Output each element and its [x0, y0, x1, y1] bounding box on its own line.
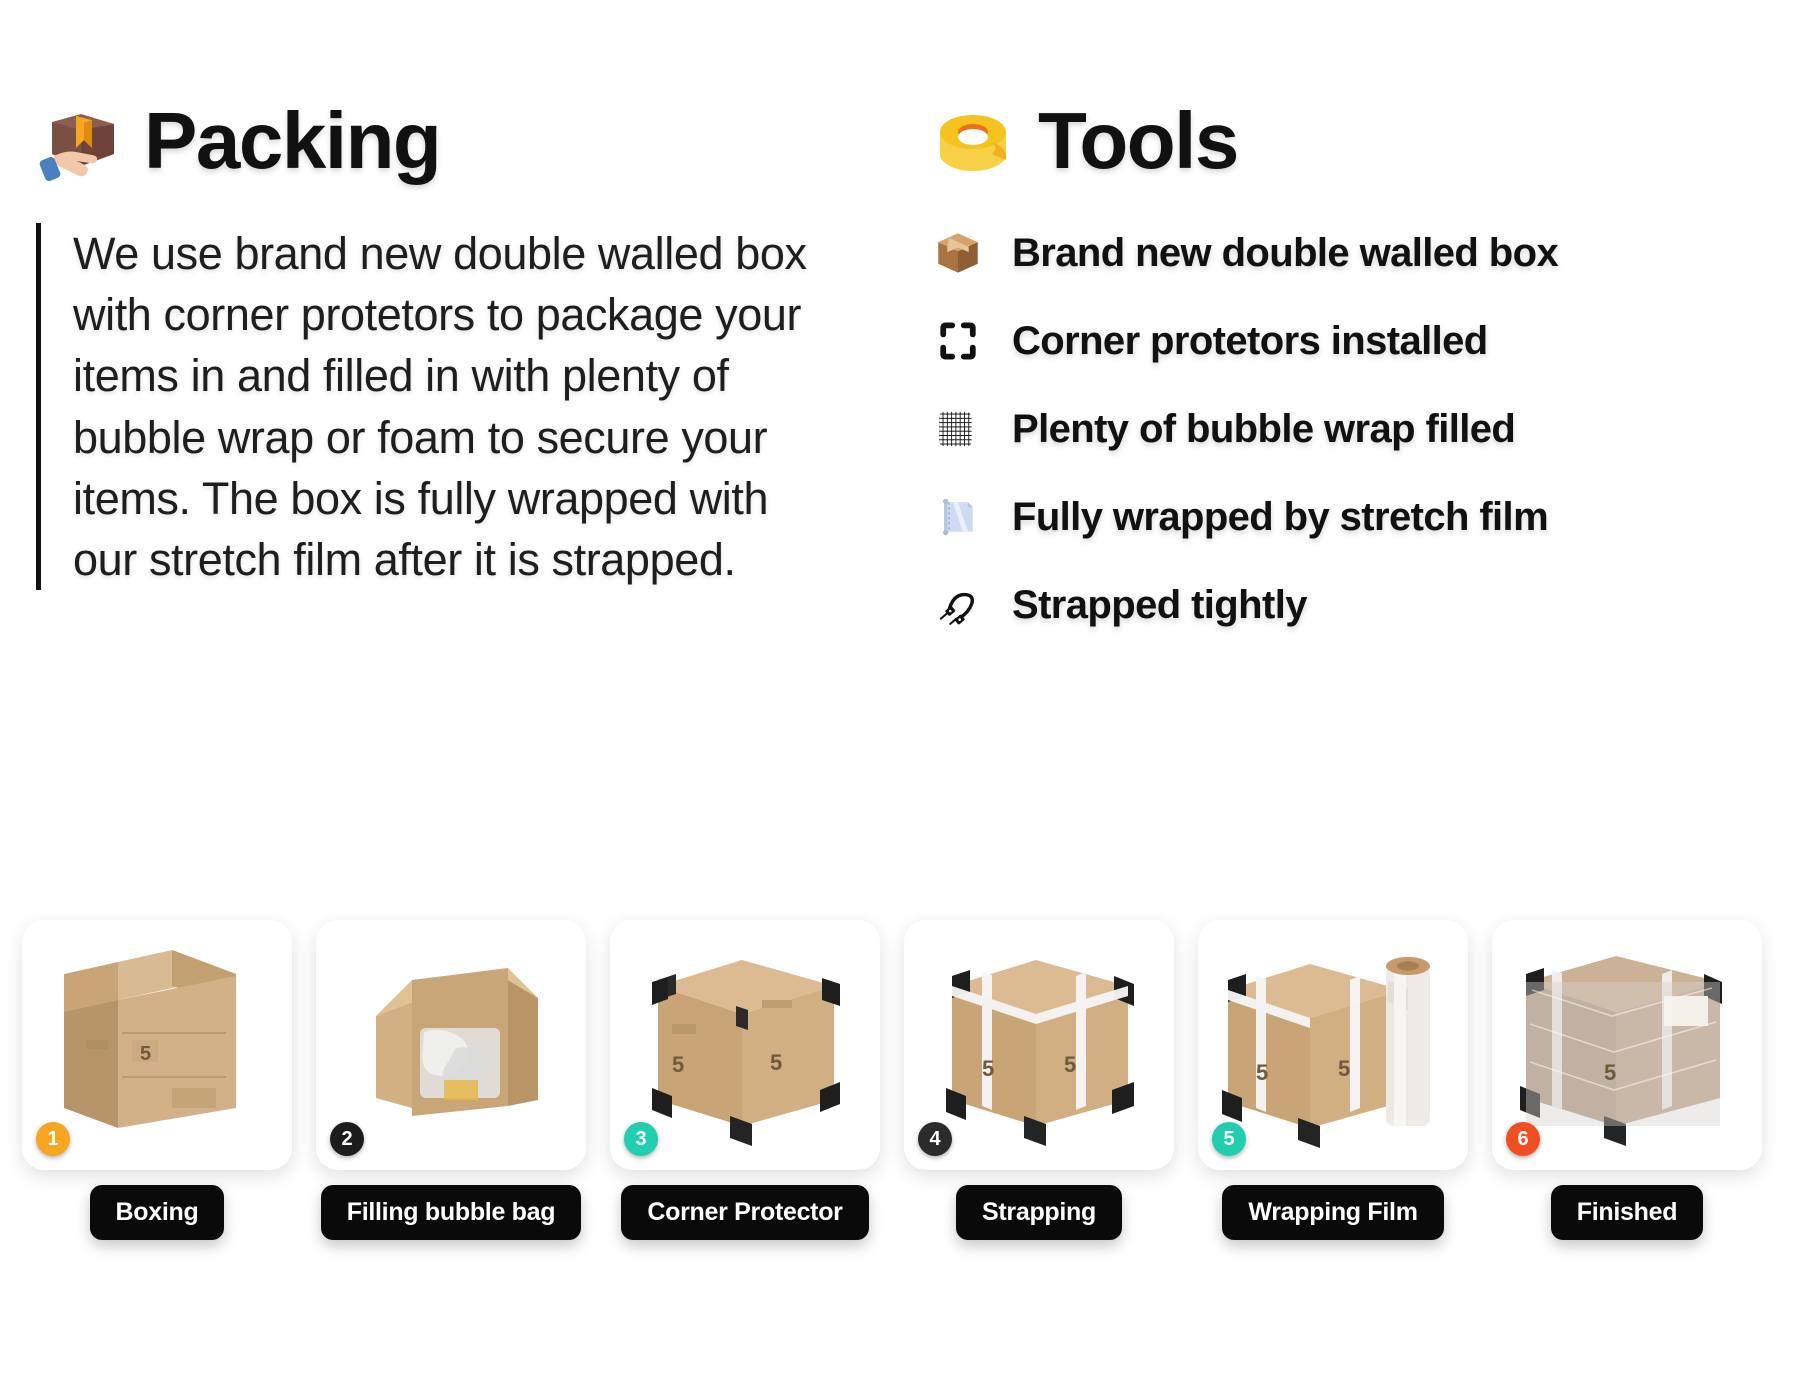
caption-finished[interactable]: Finished — [1551, 1185, 1703, 1240]
caption-filling-bubble-bag[interactable]: Filling bubble bag — [321, 1185, 581, 1240]
step-badge-5: 5 — [1212, 1122, 1246, 1156]
adhesive-tape-emoji — [930, 98, 1016, 184]
tool-item-bubble-wrap: Plenty of bubble wrap filled — [930, 393, 1820, 465]
tools-header: Tools — [930, 95, 1820, 187]
svg-text:5: 5 — [982, 1056, 994, 1081]
step-badge-number-4: 4 — [929, 1128, 940, 1151]
svg-text:5: 5 — [1604, 1060, 1616, 1085]
caption-slot-5: Wrapping Film — [1198, 1185, 1468, 1240]
step-card-3[interactable]: 5 5 3 — [610, 920, 880, 1170]
step-badge-1: 1 — [36, 1122, 70, 1156]
corner-brackets-icon — [930, 313, 986, 369]
caption-corner-protector[interactable]: Corner Protector — [621, 1185, 868, 1240]
film-roll-icon — [930, 489, 986, 545]
svg-text:5: 5 — [1256, 1060, 1268, 1085]
tools-title: Tools — [1038, 101, 1238, 181]
caption-slot-3: Corner Protector — [610, 1185, 880, 1240]
tool-label-box: Brand new double walled box — [1012, 231, 1558, 276]
packing-header: Packing — [36, 95, 920, 187]
top-section: Packing We use brand new double walled b… — [0, 0, 1820, 641]
svg-text:5: 5 — [140, 1043, 151, 1065]
svg-text:5: 5 — [1064, 1052, 1076, 1077]
caption-slot-1: Boxing — [22, 1185, 292, 1240]
tool-item-box: Brand new double walled box — [930, 217, 1820, 289]
step-badge-number-2: 2 — [341, 1128, 352, 1151]
step-card-5[interactable]: 5 5 5 — [1198, 920, 1468, 1170]
caption-strapping[interactable]: Strapping — [956, 1185, 1122, 1240]
mesh-grid-icon — [930, 401, 986, 457]
packing-body-text: We use brand new double walled box with … — [73, 223, 833, 590]
tools-list: Brand new double walled box Corner prote… — [930, 217, 1820, 641]
packing-column: Packing We use brand new double walled b… — [0, 95, 920, 641]
step-badge-6: 6 — [1506, 1122, 1540, 1156]
strap-buckle-icon — [930, 577, 986, 633]
step-card-4[interactable]: 5 5 4 — [904, 920, 1174, 1170]
steps-strip: 5 1 2 — [22, 920, 1802, 1170]
step-badge-number-5: 5 — [1223, 1128, 1234, 1151]
svg-text:5: 5 — [1338, 1056, 1350, 1081]
svg-text:5: 5 — [770, 1050, 782, 1075]
tool-item-stretch-film: Fully wrapped by stretch film — [930, 481, 1820, 553]
tool-label-bubble-wrap: Plenty of bubble wrap filled — [1012, 407, 1515, 452]
tools-column: Tools Brand new double walled box — [920, 95, 1820, 641]
step-card-1[interactable]: 5 1 — [22, 920, 292, 1170]
step-badge-number-3: 3 — [635, 1128, 646, 1151]
packing-title: Packing — [144, 101, 440, 181]
caption-boxing[interactable]: Boxing — [90, 1185, 225, 1240]
step-badge-3: 3 — [624, 1122, 658, 1156]
package-hand-emoji — [36, 98, 122, 184]
tool-label-corner-protector: Corner protetors installed — [1012, 319, 1488, 364]
caption-slot-4: Strapping — [904, 1185, 1174, 1240]
caption-wrapping-film[interactable]: Wrapping Film — [1222, 1185, 1443, 1240]
step-card-2[interactable]: 2 — [316, 920, 586, 1170]
tool-label-strapping: Strapped tightly — [1012, 583, 1307, 628]
step-badge-number-6: 6 — [1517, 1128, 1528, 1151]
step-badge-2: 2 — [330, 1122, 364, 1156]
tool-item-strapping: Strapped tightly — [930, 569, 1820, 641]
caption-slot-6: Finished — [1492, 1185, 1762, 1240]
caption-slot-2: Filling bubble bag — [316, 1185, 586, 1240]
step-card-6[interactable]: 5 6 — [1492, 920, 1762, 1170]
packing-quote-block: We use brand new double walled box with … — [36, 223, 833, 590]
step-badge-4: 4 — [918, 1122, 952, 1156]
svg-text:5: 5 — [672, 1052, 684, 1077]
step-captions: Boxing Filling bubble bag Corner Protect… — [22, 1185, 1802, 1240]
tool-item-corner-protector: Corner protetors installed — [930, 305, 1820, 377]
tool-label-stretch-film: Fully wrapped by stretch film — [1012, 495, 1548, 540]
package-box-emoji — [930, 225, 986, 281]
step-badge-number-1: 1 — [47, 1128, 58, 1151]
